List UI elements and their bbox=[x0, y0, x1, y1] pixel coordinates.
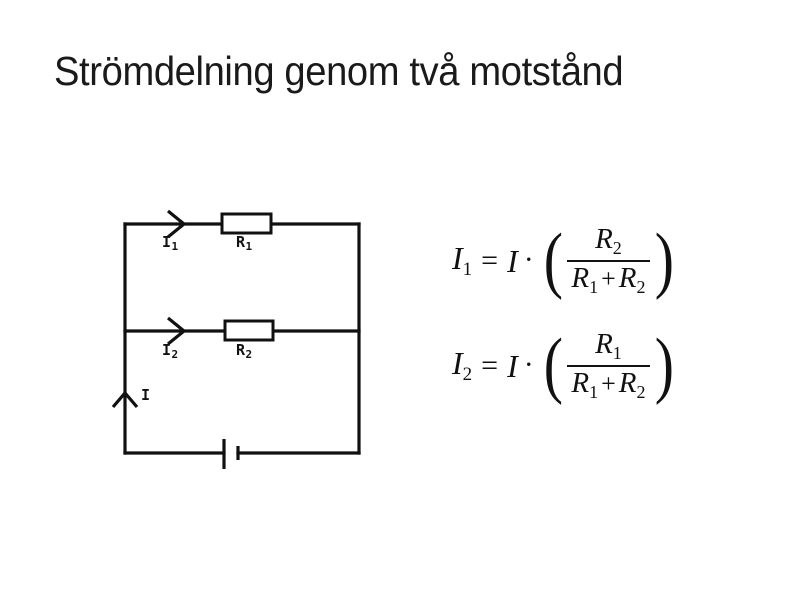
formula-i2: I2 = I · ( R1 R1+R2 ) bbox=[452, 329, 678, 402]
formula-i2-denominator: R1+R2 bbox=[567, 368, 649, 402]
formula-i2-equals: = bbox=[481, 351, 498, 381]
formula-i2-paren-open: ( bbox=[543, 336, 562, 395]
formula-i1-paren-open: ( bbox=[543, 231, 562, 290]
formula-block: I1 = I · ( R2 R1+R2 ) I2 = I · ( R1 R1+R… bbox=[452, 224, 702, 444]
formula-i2-fraction: R1 R1+R2 bbox=[567, 329, 649, 402]
formula-i1-paren-close: ) bbox=[654, 231, 673, 290]
resistor-r1 bbox=[222, 214, 271, 233]
circuit-label-i: I bbox=[141, 386, 150, 404]
circuit-label-i1: I1 bbox=[162, 233, 178, 253]
circuit-label-r2: R2 bbox=[236, 341, 252, 361]
formula-i1-fraction: R2 R1+R2 bbox=[567, 224, 649, 297]
formula-i2-times: · bbox=[524, 350, 534, 380]
formula-i2-factor: I bbox=[507, 350, 518, 382]
formula-i1-factor: I bbox=[507, 245, 518, 277]
formula-i2-numerator: R1 bbox=[591, 329, 626, 363]
formula-i1-equals: = bbox=[481, 246, 498, 276]
page-title: Strömdelning genom två motstånd bbox=[54, 48, 705, 95]
formula-i1-denominator: R1+R2 bbox=[567, 263, 649, 297]
slide-canvas: Strömdelning genom två motstånd bbox=[0, 0, 800, 600]
circuit-diagram: I1 R1 I2 R2 I bbox=[100, 190, 400, 490]
formula-i2-paren-close: ) bbox=[654, 336, 673, 395]
formula-i1-numerator: R2 bbox=[591, 224, 626, 258]
formula-i1-times: · bbox=[524, 245, 534, 275]
resistor-r2 bbox=[225, 321, 273, 340]
circuit-label-r1: R1 bbox=[236, 233, 252, 253]
formula-i1: I1 = I · ( R2 R1+R2 ) bbox=[452, 224, 678, 297]
formula-i1-lhs: I1 bbox=[452, 242, 472, 279]
formula-i2-lhs: I2 bbox=[452, 347, 472, 384]
circuit-label-i2: I2 bbox=[162, 341, 178, 361]
